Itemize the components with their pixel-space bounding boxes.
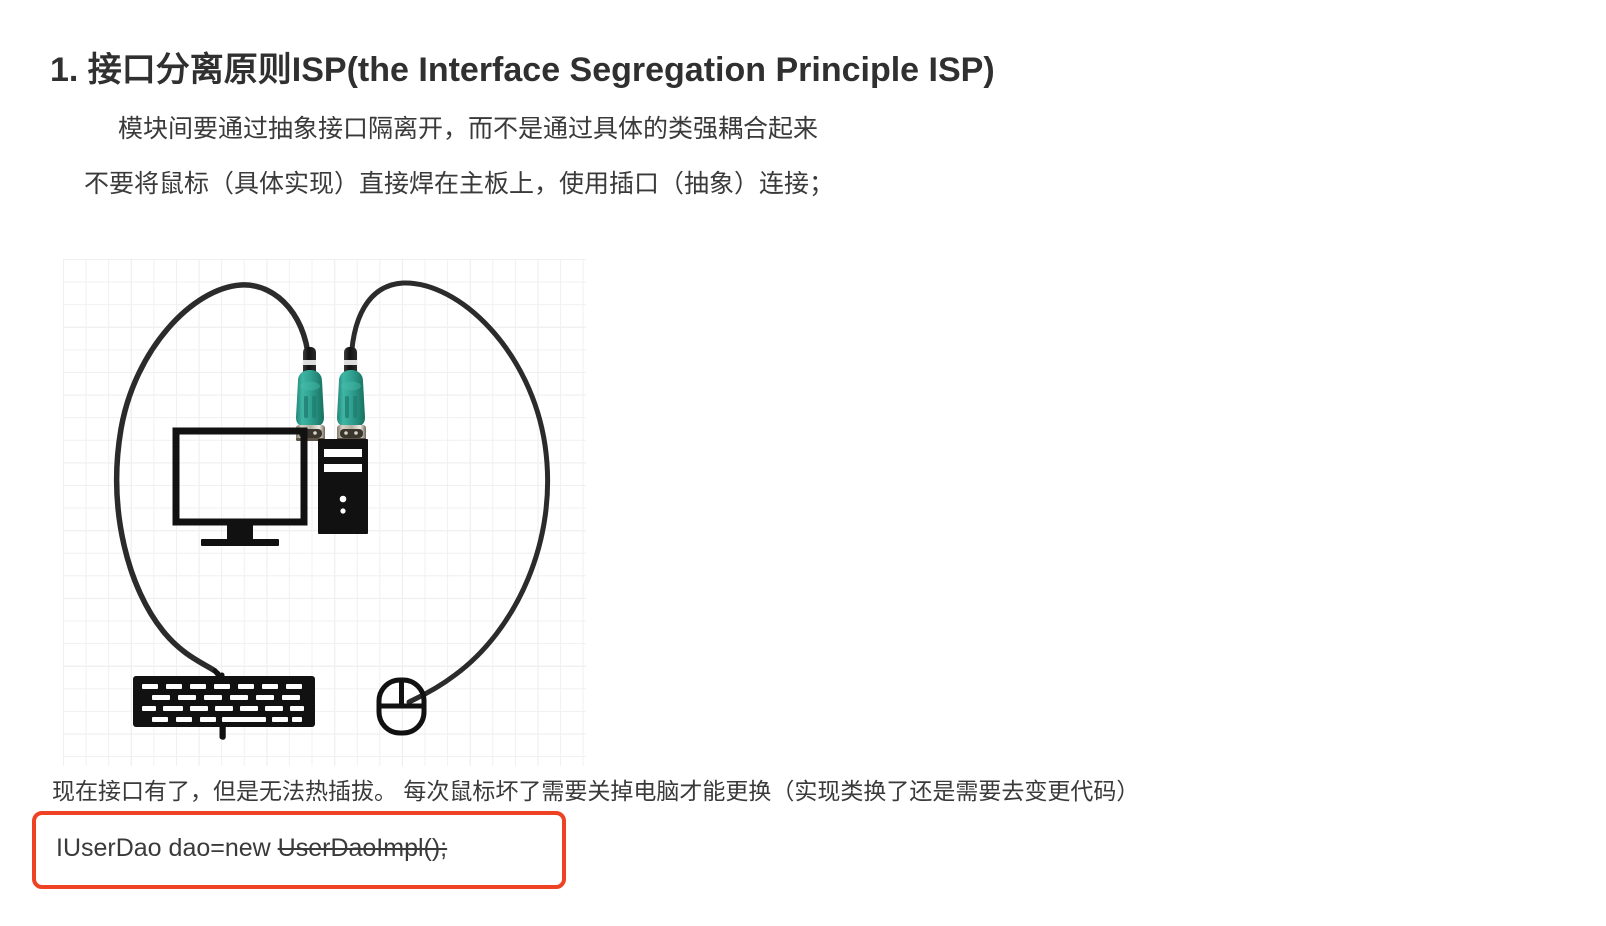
hardware-diagram-svg bbox=[63, 259, 586, 766]
hardware-diagram-figure bbox=[63, 259, 586, 766]
highlighted-code-box: IUserDao dao=new UserDaoImpl(); bbox=[32, 811, 566, 889]
ps2-connector-left bbox=[296, 347, 325, 441]
intro-line-1: 模块间要通过抽象接口隔离开，而不是通过具体的类强耦合起来 bbox=[118, 113, 818, 146]
ps2-connector-right bbox=[337, 347, 366, 441]
code-normal-part: IUserDao dao=new bbox=[56, 834, 278, 862]
mouse-cable bbox=[351, 283, 548, 702]
page-title: 1. 接口分离原则ISP(the Interface Segregation P… bbox=[50, 42, 995, 91]
code-struck-part: UserDaoImpl(); bbox=[278, 834, 447, 862]
keyboard bbox=[133, 676, 315, 727]
keyboard-cable bbox=[117, 285, 309, 737]
figure-caption: 现在接口有了，但是无法热插拔。 每次鼠标坏了需要关掉电脑才能更换（实现类换了还是… bbox=[52, 772, 1139, 806]
monitor bbox=[176, 431, 304, 546]
intro-line-2: 不要将鼠标（具体实现）直接焊在主板上，使用插口（抽象）连接； bbox=[84, 168, 834, 201]
tower-case bbox=[318, 439, 368, 534]
mouse bbox=[379, 680, 424, 733]
code-snippet: IUserDao dao=new UserDaoImpl(); bbox=[56, 834, 447, 863]
